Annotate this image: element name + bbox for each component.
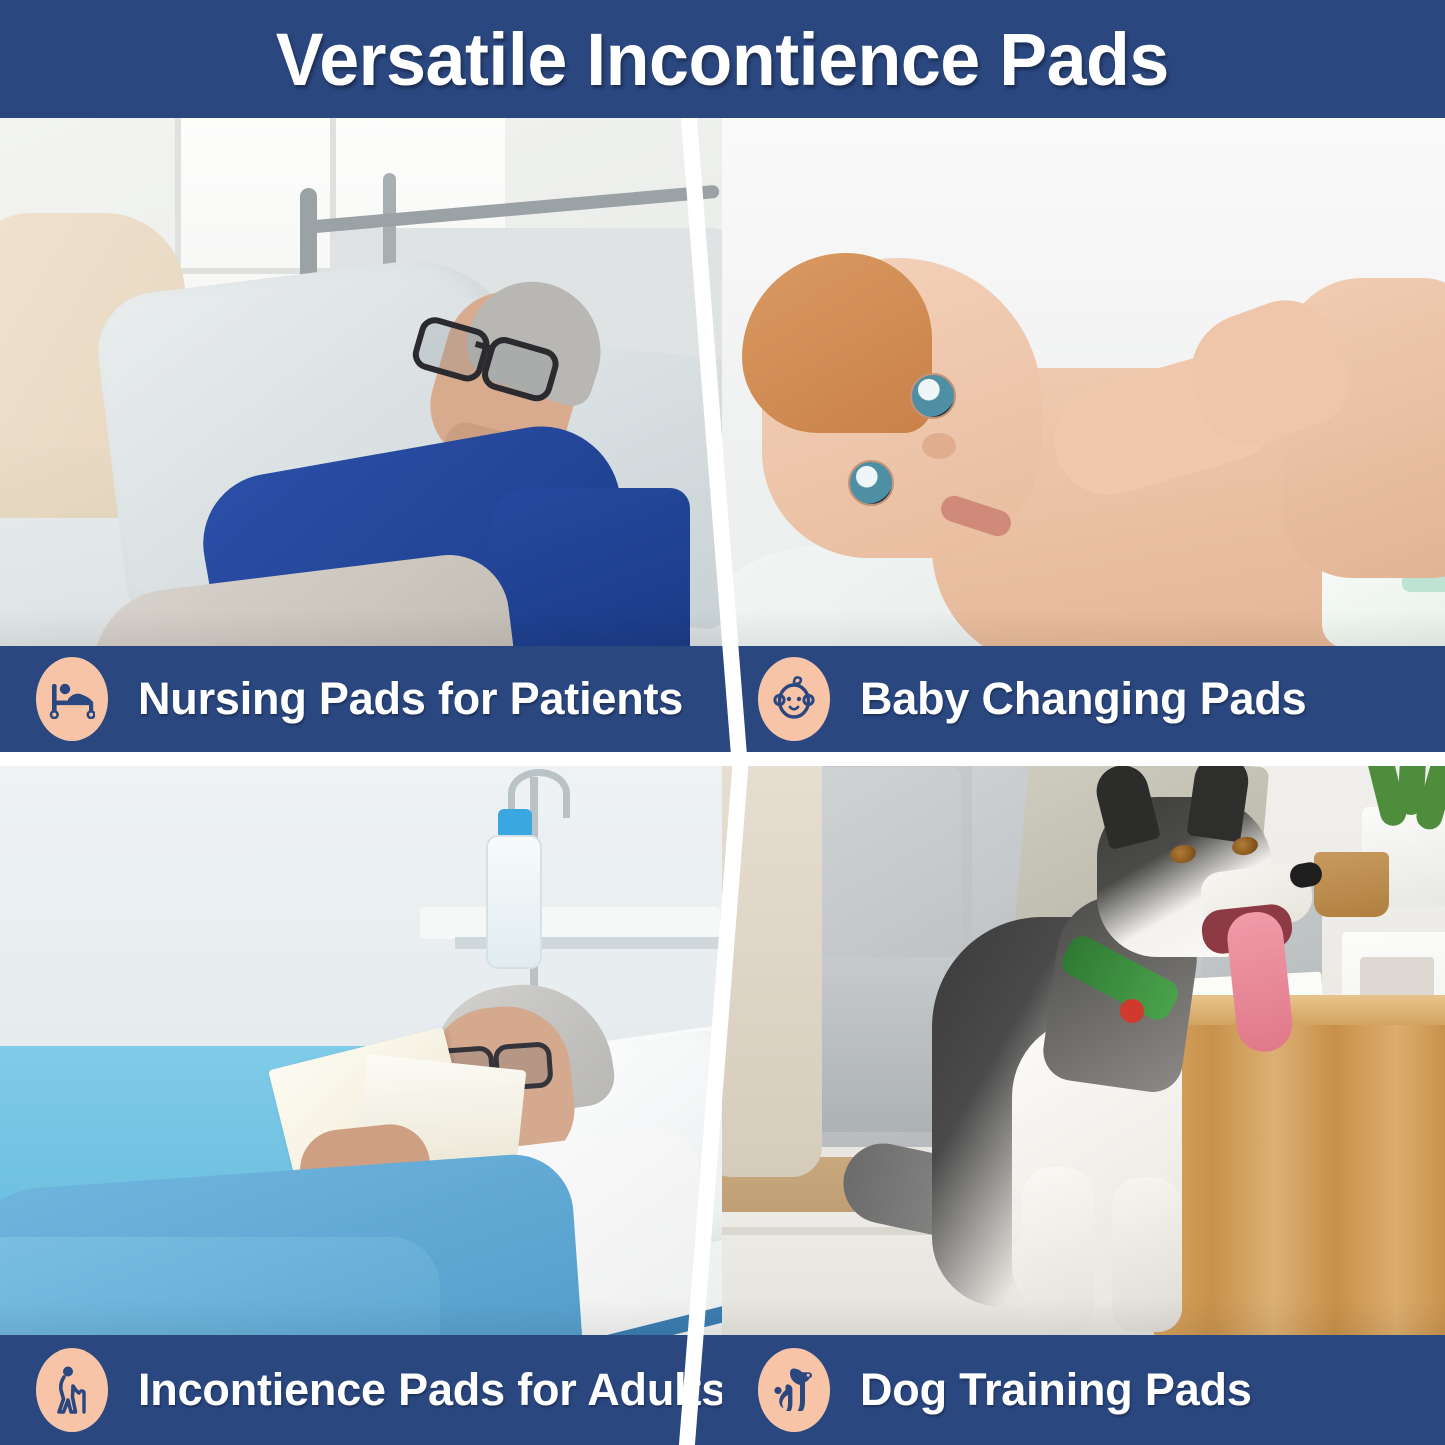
photo-nursing-patient: [0, 118, 722, 646]
page-title: Versatile Incontience Pads: [276, 17, 1169, 102]
dog-illustration: [902, 767, 1322, 1335]
dog-cat-icon: [758, 1348, 830, 1432]
panel-nursing: Nursing Pads for Patients: [0, 118, 722, 752]
photo-elderly-woman: [0, 757, 722, 1335]
label-strip-nursing: Nursing Pads for Patients: [0, 646, 722, 752]
hospital-bed-icon: [36, 657, 108, 741]
panel-baby: Baby Changing Pads: [722, 118, 1445, 752]
panel-dog: Dog Training Pads: [722, 757, 1445, 1445]
photo-husky-dog: [722, 757, 1445, 1335]
panel-label-nursing: Nursing Pads for Patients: [138, 673, 683, 725]
baby-face-icon: [758, 657, 830, 741]
infographic-root: Versatile Incontience Pads: [0, 0, 1445, 1445]
divider-horizontal: [0, 752, 1445, 766]
panel-adults: Incontience Pads for Adults: [0, 757, 722, 1445]
label-strip-dog: Dog Training Pads: [722, 1335, 1445, 1445]
title-bar: Versatile Incontience Pads: [0, 0, 1445, 118]
photo-baby: [722, 118, 1445, 646]
label-strip-baby: Baby Changing Pads: [722, 646, 1445, 752]
label-strip-adults: Incontience Pads for Adults: [0, 1335, 722, 1445]
panel-label-baby: Baby Changing Pads: [860, 673, 1306, 725]
elderly-person-cane-icon: [36, 1348, 108, 1432]
panel-label-adults: Incontience Pads for Adults: [138, 1364, 722, 1416]
panel-label-dog: Dog Training Pads: [860, 1364, 1252, 1416]
